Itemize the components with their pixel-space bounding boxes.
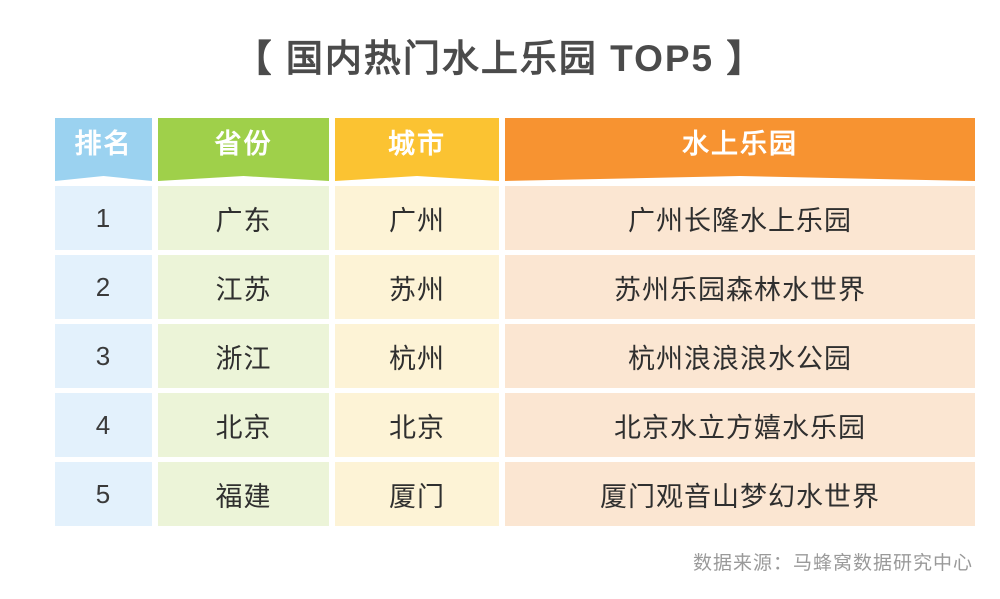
- cell-province: 浙江: [158, 324, 329, 388]
- column-header-city-body: 城市: [335, 118, 499, 170]
- column-header-park-label: 水上乐园: [682, 131, 798, 158]
- table-row: 2 江苏 苏州 苏州乐园森林水世界: [55, 255, 975, 319]
- column-header-rank-body: 排名: [55, 118, 152, 170]
- cell-rank: 3: [55, 324, 152, 388]
- table-row: 3 浙江 杭州 杭州浪浪浪水公园: [55, 324, 975, 388]
- table-header-row: 排名 省份 城市 水上乐园: [55, 118, 975, 181]
- cell-park: 杭州浪浪浪水公园: [505, 324, 975, 388]
- column-header-park: 水上乐园: [505, 118, 975, 181]
- table-row: 1 广东 广州 广州长隆水上乐园: [55, 186, 975, 250]
- cell-rank: 5: [55, 462, 152, 526]
- column-header-park-body: 水上乐园: [505, 118, 975, 170]
- column-header-park-tail: [505, 170, 975, 181]
- cell-rank: 4: [55, 393, 152, 457]
- cell-park: 北京水立方嬉水乐园: [505, 393, 975, 457]
- table-row: 5 福建 厦门 厦门观音山梦幻水世界: [55, 462, 975, 526]
- cell-park: 广州长隆水上乐园: [505, 186, 975, 250]
- cell-city: 苏州: [335, 255, 499, 319]
- column-header-city-label: 城市: [388, 131, 446, 158]
- column-header-rank: 排名: [55, 118, 152, 181]
- cell-city: 北京: [335, 393, 499, 457]
- top5-table: 排名 省份 城市 水上乐园 1 广东 广州 广州: [55, 118, 975, 526]
- column-header-province: 省份: [158, 118, 329, 181]
- column-header-city-tail: [335, 170, 499, 181]
- column-header-city: 城市: [335, 118, 499, 181]
- cell-city: 厦门: [335, 462, 499, 526]
- page-title: 【 国内热门水上乐园 TOP5 】: [0, 28, 1000, 82]
- column-header-province-label: 省份: [215, 131, 273, 158]
- cell-park: 厦门观音山梦幻水世界: [505, 462, 975, 526]
- cell-province: 北京: [158, 393, 329, 457]
- column-header-province-tail: [158, 170, 329, 181]
- data-source-note: 数据来源：马蜂窝数据研究中心: [693, 548, 973, 575]
- cell-rank: 1: [55, 186, 152, 250]
- cell-province: 福建: [158, 462, 329, 526]
- column-header-rank-label: 排名: [75, 131, 133, 158]
- cell-province: 广东: [158, 186, 329, 250]
- column-header-province-body: 省份: [158, 118, 329, 170]
- cell-rank: 2: [55, 255, 152, 319]
- cell-park: 苏州乐园森林水世界: [505, 255, 975, 319]
- table-body: 1 广东 广州 广州长隆水上乐园 2 江苏 苏州 苏州乐园森林水世界 3 浙江 …: [55, 186, 975, 526]
- cell-city: 杭州: [335, 324, 499, 388]
- cell-city: 广州: [335, 186, 499, 250]
- cell-province: 江苏: [158, 255, 329, 319]
- column-header-rank-tail: [55, 170, 152, 181]
- table-row: 4 北京 北京 北京水立方嬉水乐园: [55, 393, 975, 457]
